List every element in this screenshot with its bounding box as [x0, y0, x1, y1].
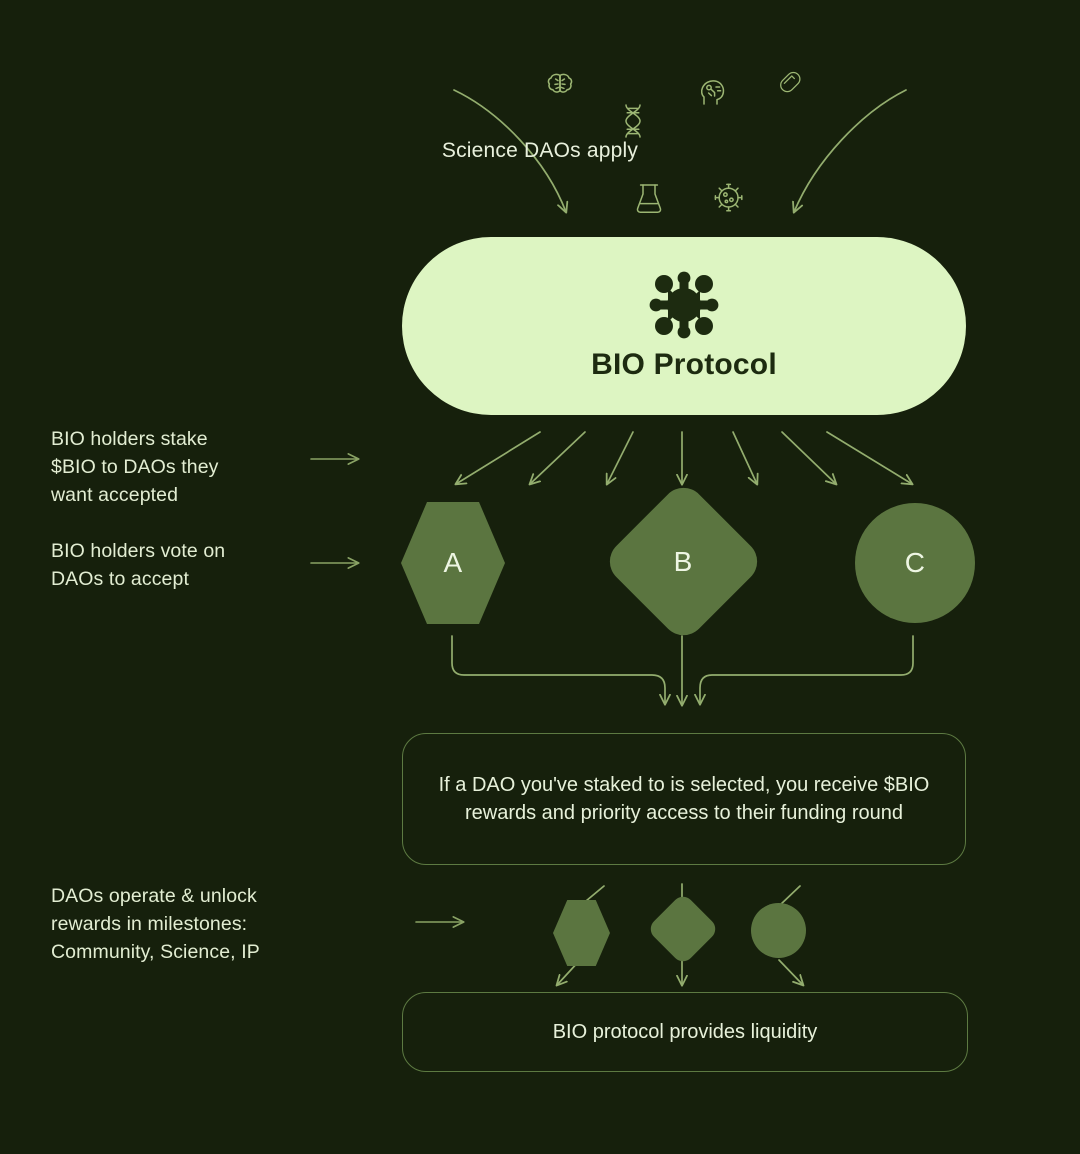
fanout-arrow-3 [607, 432, 633, 484]
converge-elbow-c [700, 636, 913, 704]
milestone-node-diamond[interactable] [646, 892, 720, 966]
virus-icon [715, 184, 741, 210]
fanout-arrow-7 [827, 432, 912, 484]
science-daos-caption: Science DAOs apply [0, 139, 1080, 163]
dna-helix-icon [626, 105, 640, 137]
fanout-arrow-1 [456, 432, 540, 484]
dao-node-a[interactable]: A [401, 502, 505, 624]
milestone-arrow-cir [779, 960, 803, 985]
bio-protocol-logo-icon [648, 270, 720, 340]
converge-elbow-a [452, 636, 665, 704]
fanout-arrow-2 [530, 432, 585, 484]
panel-protocol-liquidity: BIO protocol provides liquidity [402, 992, 968, 1072]
panel-staking-rewards: If a DAO you've staked to is selected, y… [402, 733, 966, 865]
dao-node-c[interactable]: C [855, 503, 975, 623]
dao-node-b[interactable]: B [601, 479, 766, 644]
label-daos-operate-milestones: DAOs operate & unlock rewards in milesto… [51, 882, 341, 966]
dao-node-b-label: B [674, 545, 693, 577]
brain-icon [548, 74, 571, 92]
label-bio-holders-vote: BIO holders vote on DAOs to accept [51, 537, 301, 593]
fanout-arrow-6 [782, 432, 836, 484]
panel-staking-rewards-text: If a DAO you've staked to is selected, y… [437, 771, 931, 827]
milestone-node-circle[interactable] [751, 903, 806, 958]
erlenmeyer-flask-icon [637, 185, 660, 212]
panel-protocol-liquidity-text: BIO protocol provides liquidity [553, 1021, 818, 1044]
bio-protocol-card[interactable]: BIO Protocol [402, 237, 966, 415]
label-bio-holders-stake: BIO holders stake $BIO to DAOs they want… [51, 425, 301, 509]
bio-protocol-title: BIO Protocol [591, 348, 777, 382]
pill-capsule-icon [781, 72, 800, 91]
dao-node-a-label: A [444, 547, 463, 579]
fanout-arrow-5 [733, 432, 757, 484]
dao-node-c-label: C [905, 547, 926, 579]
milestone-node-hexagon[interactable] [553, 900, 610, 966]
head-circuit-icon [702, 81, 724, 104]
diagram-canvas: Science DAOs apply BIO Protocol BIO hold… [0, 0, 1080, 1154]
